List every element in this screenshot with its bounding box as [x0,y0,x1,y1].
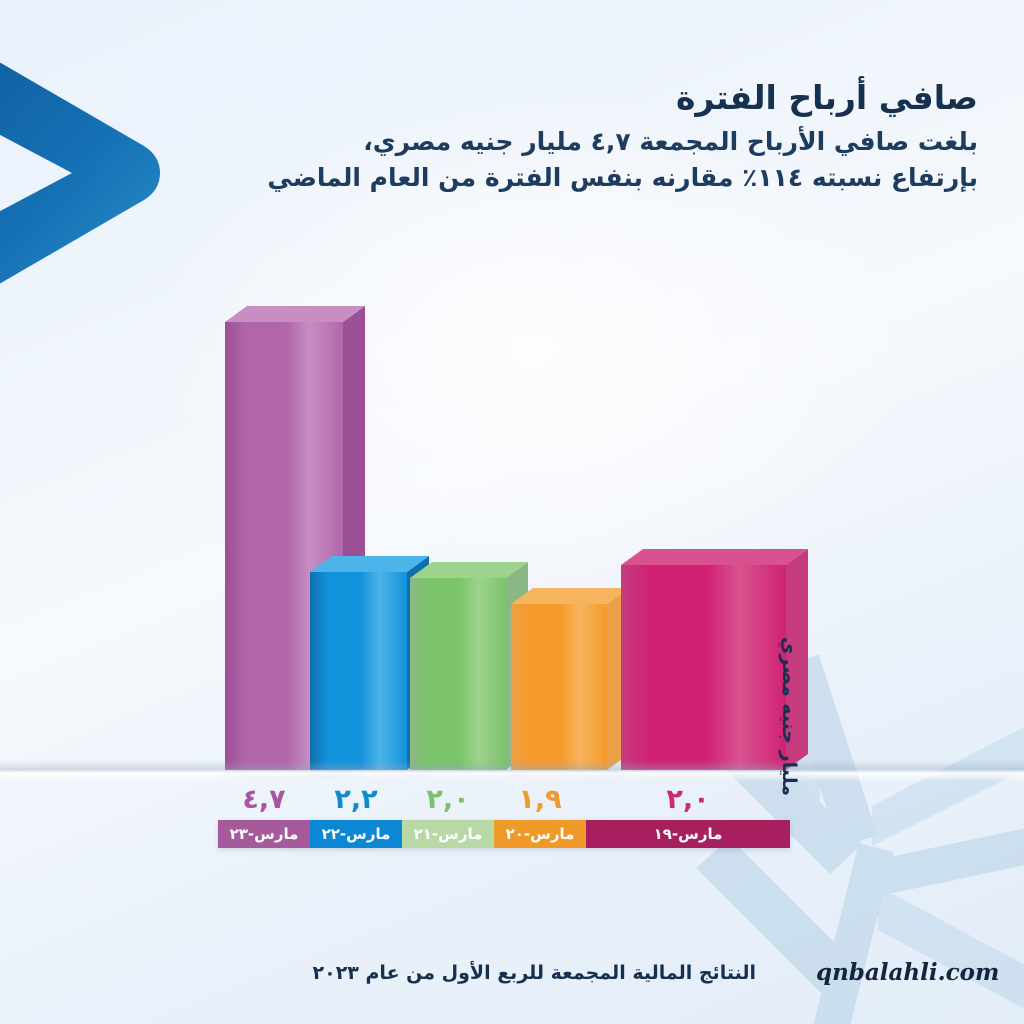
bar-4 [507,588,629,782]
subtitle-line-2: بإرتفاع نسبته ١١٤٪ مقارنه بنفس الفترة من… [78,160,978,196]
bar-top-face [410,562,528,578]
footer-website[interactable]: qnbalahli.com [816,959,999,986]
footer-note: النتائج المالية المجمعة للربع الأول من ع… [313,962,757,984]
bar-side-face [407,556,429,770]
bar-2 [306,556,429,782]
y-axis-label: مليار جنيه مصري [764,556,800,796]
category-label-1: مارس-٢٣ [218,820,310,848]
bar-value-label: ٤,٧ [218,783,310,817]
headline-block: صافي أرباح الفترة بلغت صافي الأرباح المج… [78,78,978,196]
category-label-2: مارس-٢٢ [310,820,402,848]
bar-value-label: ٢,٠ [402,783,494,817]
bar-side-face [343,306,365,770]
page-title: صافي أرباح الفترة [78,78,978,118]
bar-front-face [511,604,607,770]
bar-value-label: ١,٩ [494,783,586,817]
bar-1 [219,306,365,782]
bar-value-label: ٢,٢ [310,783,402,817]
bar-shadow [406,768,525,782]
bar-side-face [506,562,528,770]
infographic-canvas: صافي أرباح الفترة بلغت صافي الأرباح المج… [0,0,1024,1024]
bar-top-face [511,588,629,604]
chart-floor-line [0,760,1024,782]
bar-side-face [607,588,629,770]
bar-front-face [621,565,786,770]
bar-front-face [310,572,407,770]
bar-shadow [219,768,365,782]
category-label-5: مارس-١٩ [586,820,790,848]
subtitle-line-1: بلغت صافي الأرباح المجمعة ٤,٧ مليار جنيه… [78,124,978,160]
bar-3 [406,562,528,782]
category-label-3: مارس-٢١ [402,820,494,848]
bar-value-label: ٢,٠ [586,783,790,817]
bar-value-labels: ٤,٧٢,٢٢,٠١,٩٢,٠ [218,783,790,819]
bar-top-face [310,556,429,572]
bar-front-face [225,322,343,770]
category-strip: مارس-٢٣مارس-٢٢مارس-٢١مارس-٢٠مارس-١٩ [218,820,790,848]
category-label-4: مارس-٢٠ [494,820,586,848]
bar-shadow [507,768,626,782]
bar-front-face [410,578,506,770]
bar-shadow [306,768,426,782]
bar-top-face [225,306,365,322]
